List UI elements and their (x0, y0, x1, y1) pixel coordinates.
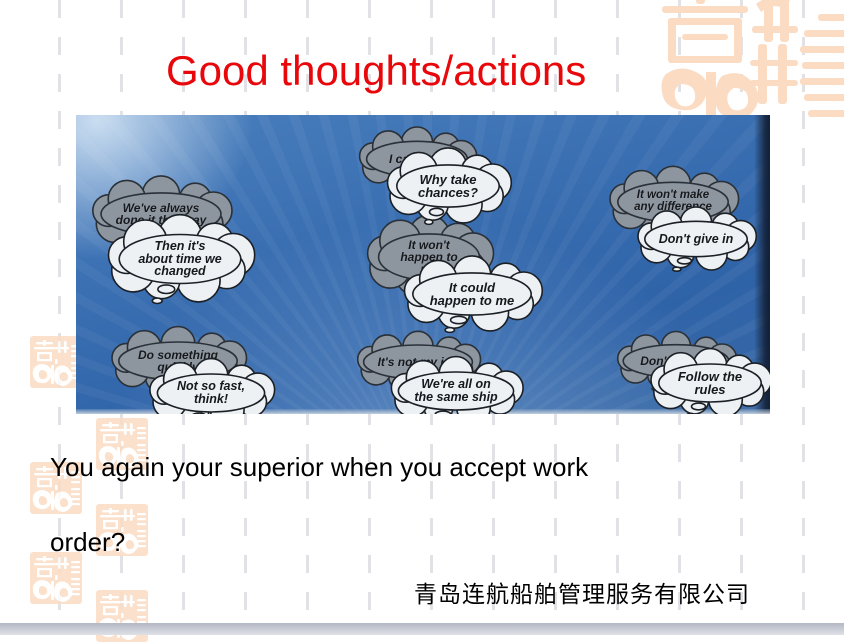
bubble-follow-the-rules: Follow the rules (646, 355, 770, 411)
bubble-why-take-chances: Why take chances? (384, 155, 512, 217)
seal-watermark-icon (30, 336, 82, 388)
body-text-line-2: order? (50, 525, 125, 559)
seal-watermark-icon (30, 552, 82, 604)
bubble-then-its-time: Then it's about time we changed (104, 223, 256, 295)
page-title: Good thoughts/actions (166, 46, 586, 96)
bubble-not-so-fast: Not so fast, think! (144, 365, 278, 414)
corner-seal-watermark-icon (652, 0, 844, 126)
bottom-bar (0, 623, 844, 635)
body-text-line-1: You again your superior when you accept … (50, 450, 588, 484)
bubble-it-could-happen: It could happen to me (398, 263, 546, 325)
bubble-dont-give-in: Don't give in (632, 213, 760, 265)
bubble-same-ship: We're all on the same ship (384, 363, 528, 414)
thought-bubbles-photo: We've always done it that way Then it's … (76, 115, 770, 414)
footer-company-name: 青岛连航船舶管理服务有限公司 (414, 580, 750, 610)
